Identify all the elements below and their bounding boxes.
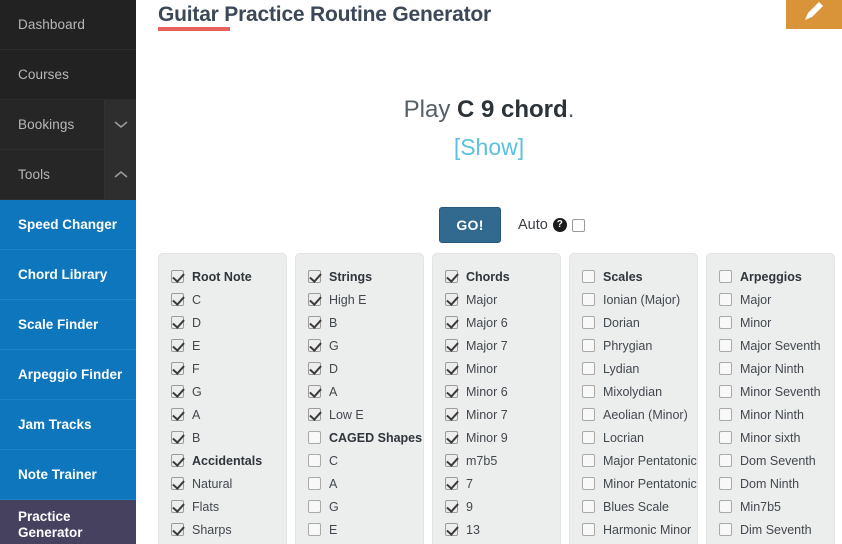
option-row[interactable]: Minor — [433, 357, 560, 380]
option-label: Minor Pentatonic — [603, 477, 697, 491]
option-label: A — [192, 408, 200, 422]
checkbox-chords-9[interactable] — [445, 477, 458, 490]
sidebar-item-bookings[interactable]: Bookings — [0, 100, 136, 150]
option-row[interactable]: D — [159, 311, 286, 334]
option-columns: Root NoteCDEFGABAccidentalsNaturalFlatsS… — [158, 253, 835, 544]
option-row[interactable]: Sharps — [159, 518, 286, 541]
checkbox-scales-2[interactable] — [582, 316, 595, 329]
option-label: CAGED Shapes — [329, 431, 422, 445]
main-content: Guitar Practice Routine Generator Play C… — [136, 0, 842, 544]
option-row[interactable]: G — [296, 495, 423, 518]
option-row[interactable]: Major Seventh — [707, 334, 834, 357]
checkbox-chords-1[interactable] — [445, 293, 458, 306]
option-column-root-note: Root NoteCDEFGABAccidentalsNaturalFlatsS… — [158, 253, 287, 544]
prompt-prefix: Play — [404, 96, 457, 123]
option-row[interactable]: Low E — [296, 403, 423, 426]
option-row[interactable]: Phrygian — [570, 334, 697, 357]
checkbox-scales-5[interactable] — [582, 385, 595, 398]
title-underline — [158, 27, 230, 31]
checkbox-strings-4[interactable] — [308, 362, 321, 375]
option-row[interactable]: Major Pentatonic — [570, 449, 697, 472]
sidebar-item-scale-finder[interactable]: Scale Finder — [0, 300, 136, 350]
option-label: m7b5 — [466, 454, 497, 468]
option-label: Lydian — [603, 362, 639, 376]
checkbox-root-note-2[interactable] — [171, 316, 184, 329]
checkbox-root-note-4[interactable] — [171, 362, 184, 375]
option-label: Chords — [466, 270, 510, 284]
checkbox-scales-10[interactable] — [582, 500, 595, 513]
option-row[interactable]: Natural — [159, 472, 286, 495]
checkbox-strings-0[interactable] — [308, 270, 321, 283]
option-label: Root Note — [192, 270, 252, 284]
option-label: Major Pentatonic — [603, 454, 697, 468]
option-row[interactable]: 13 — [433, 518, 560, 541]
checkbox-chords-7[interactable] — [445, 431, 458, 444]
sidebar-item-label: Chord Library — [18, 267, 107, 283]
option-row[interactable]: Dom Seventh — [707, 449, 834, 472]
app-root: DashboardCoursesBookingsToolsSpeed Chang… — [0, 0, 842, 544]
checkbox-strings-5[interactable] — [308, 385, 321, 398]
chevron-up-icon[interactable] — [104, 150, 136, 199]
sidebar-item-label: Practice Generator — [18, 509, 128, 540]
checkbox-chords-10[interactable] — [445, 500, 458, 513]
pencil-icon — [801, 0, 827, 24]
option-label: Arpeggios — [740, 270, 802, 284]
option-label: Natural — [192, 477, 232, 491]
option-row[interactable]: D — [296, 357, 423, 380]
option-row[interactable]: C — [159, 288, 286, 311]
option-label: 7 — [466, 477, 473, 491]
option-row[interactable]: E — [159, 334, 286, 357]
checkbox-chords-3[interactable] — [445, 339, 458, 352]
option-label: Minor sixth — [740, 431, 800, 445]
sidebar-item-label: Bookings — [18, 117, 74, 132]
option-label: F — [192, 362, 200, 376]
option-group-header[interactable]: Accidentals — [159, 449, 286, 472]
option-label: Minor — [740, 316, 771, 330]
sidebar-item-label: Speed Changer — [18, 217, 117, 233]
option-label: High E — [329, 293, 367, 307]
checkbox-scales-6[interactable] — [582, 408, 595, 421]
option-group-header[interactable]: Arpeggios — [707, 265, 834, 288]
practice-prompt: Play C 9 chord. — [136, 96, 842, 124]
prompt-suffix: . — [568, 96, 575, 123]
option-label: Dom Seventh — [740, 454, 816, 468]
checkbox-strings-2[interactable] — [308, 316, 321, 329]
checkbox-root-note-0[interactable] — [171, 270, 184, 283]
option-label: 13 — [466, 523, 480, 537]
sidebar-item-label: Tools — [18, 167, 50, 182]
option-row[interactable]: Major 7 — [433, 334, 560, 357]
go-button[interactable]: GO! — [439, 207, 501, 243]
option-row[interactable]: Major — [433, 288, 560, 311]
checkbox-arpeggios-1[interactable] — [719, 293, 732, 306]
option-row[interactable]: Major — [707, 288, 834, 311]
option-label: Dorian — [603, 316, 640, 330]
checkbox-scales-4[interactable] — [582, 362, 595, 375]
auto-label: Auto — [518, 217, 548, 233]
option-label: Harmonic Minor — [603, 523, 691, 537]
checkbox-scales-11[interactable] — [582, 523, 595, 536]
checkbox-scales-1[interactable] — [582, 293, 595, 306]
checkbox-scales-0[interactable] — [582, 270, 595, 283]
option-label: Strings — [329, 270, 372, 284]
auto-control: Auto ? — [518, 217, 585, 233]
checkbox-strings-8[interactable] — [308, 454, 321, 467]
option-label: Major — [466, 293, 497, 307]
checkbox-arpeggios-0[interactable] — [719, 270, 732, 283]
option-group-header[interactable]: Root Note — [159, 265, 286, 288]
checkbox-strings-6[interactable] — [308, 408, 321, 421]
checkbox-scales-3[interactable] — [582, 339, 595, 352]
checkbox-scales-7[interactable] — [582, 431, 595, 444]
option-row[interactable]: Major 6 — [433, 311, 560, 334]
option-row[interactable]: Minor Ninth — [707, 403, 834, 426]
checkbox-strings-7[interactable] — [308, 431, 321, 444]
option-row[interactable]: Minor 9 — [433, 426, 560, 449]
option-row[interactable]: A — [159, 403, 286, 426]
option-row[interactable]: Minor Pentatonic — [570, 472, 697, 495]
sidebar-item-label: Dashboard — [18, 17, 85, 32]
option-row[interactable]: Mixolydian — [570, 380, 697, 403]
checkbox-chords-2[interactable] — [445, 316, 458, 329]
option-row[interactable]: 7 — [433, 472, 560, 495]
checkbox-chords-8[interactable] — [445, 454, 458, 467]
option-label: Min7b5 — [740, 500, 781, 514]
checkbox-root-note-11[interactable] — [171, 523, 184, 536]
option-row[interactable]: Aeolian (Minor) — [570, 403, 697, 426]
checkbox-root-note-10[interactable] — [171, 500, 184, 513]
checkbox-root-note-3[interactable] — [171, 339, 184, 352]
sidebar-item-label: Courses — [18, 67, 69, 82]
sidebar-item-practice-generator[interactable]: Practice Generator — [0, 500, 136, 544]
option-label: Major Seventh — [740, 339, 821, 353]
option-group-header[interactable]: Chords — [433, 265, 560, 288]
option-label: Dim Seventh — [740, 523, 812, 537]
checkbox-strings-9[interactable] — [308, 477, 321, 490]
checkbox-scales-9[interactable] — [582, 477, 595, 490]
option-row[interactable]: Lydian — [570, 357, 697, 380]
option-label: Major — [740, 293, 771, 307]
edit-page-button[interactable] — [786, 0, 842, 29]
option-label: C — [329, 454, 338, 468]
option-row[interactable]: B — [159, 426, 286, 449]
option-label: Phrygian — [603, 339, 652, 353]
option-label: Minor Ninth — [740, 408, 804, 422]
checkbox-chords-4[interactable] — [445, 362, 458, 375]
sidebar: DashboardCoursesBookingsToolsSpeed Chang… — [0, 0, 136, 544]
checkbox-arpeggios-3[interactable] — [719, 339, 732, 352]
option-label: Flats — [192, 500, 219, 514]
option-row[interactable]: G — [159, 380, 286, 403]
checkbox-arpeggios-2[interactable] — [719, 316, 732, 329]
sidebar-item-arpeggio-finder[interactable]: Arpeggio Finder — [0, 350, 136, 400]
checkbox-arpeggios-9[interactable] — [719, 477, 732, 490]
option-label: Minor 6 — [466, 385, 508, 399]
option-row[interactable]: A — [296, 380, 423, 403]
option-label: Major Ninth — [740, 362, 804, 376]
option-row[interactable]: Locrian — [570, 426, 697, 449]
checkbox-root-note-1[interactable] — [171, 293, 184, 306]
checkbox-arpeggios-5[interactable] — [719, 385, 732, 398]
option-label: D — [192, 316, 201, 330]
option-label: Scales — [603, 270, 643, 284]
checkbox-chords-6[interactable] — [445, 408, 458, 421]
option-row[interactable]: Dorian — [570, 311, 697, 334]
sidebar-item-tools[interactable]: Tools — [0, 150, 136, 200]
option-row[interactable]: Min7b5 — [707, 495, 834, 518]
sidebar-item-note-trainer[interactable]: Note Trainer — [0, 450, 136, 500]
option-label: Ionian (Major) — [603, 293, 680, 307]
prompt-value: C 9 chord — [457, 96, 568, 123]
checkbox-arpeggios-6[interactable] — [719, 408, 732, 421]
option-row[interactable]: Flats — [159, 495, 286, 518]
option-column-arpeggios: ArpeggiosMajorMinorMajor SeventhMajor Ni… — [706, 253, 835, 544]
option-row[interactable]: B — [296, 311, 423, 334]
auto-checkbox[interactable] — [572, 219, 585, 232]
option-label: B — [192, 431, 200, 445]
option-row[interactable]: Minor sixth — [707, 426, 834, 449]
option-row[interactable]: Dim Seventh — [707, 518, 834, 541]
option-label: Mixolydian — [603, 385, 662, 399]
option-label: C — [192, 293, 201, 307]
option-group-header[interactable]: Strings — [296, 265, 423, 288]
option-row[interactable]: High E — [296, 288, 423, 311]
option-row[interactable]: C — [296, 449, 423, 472]
option-label: Accidentals — [192, 454, 262, 468]
chevron-down-icon[interactable] — [104, 100, 136, 149]
checkbox-root-note-6[interactable] — [171, 408, 184, 421]
checkbox-arpeggios-10[interactable] — [719, 500, 732, 513]
option-row[interactable]: Ionian (Major) — [570, 288, 697, 311]
option-row[interactable]: Minor — [707, 311, 834, 334]
option-label: Major 6 — [466, 316, 508, 330]
generate-controls: GO! Auto ? — [439, 207, 585, 243]
option-label: G — [329, 339, 339, 353]
checkbox-strings-10[interactable] — [308, 500, 321, 513]
option-label: G — [329, 500, 339, 514]
checkbox-chords-5[interactable] — [445, 385, 458, 398]
option-label: E — [329, 523, 337, 537]
option-label: Low E — [329, 408, 364, 422]
option-row[interactable]: m7b5 — [433, 449, 560, 472]
sidebar-item-label: Note Trainer — [18, 467, 97, 483]
show-answer-link[interactable]: [Show] — [136, 134, 842, 161]
checkbox-scales-8[interactable] — [582, 454, 595, 467]
sidebar-item-label: Scale Finder — [18, 317, 98, 333]
checkbox-root-note-7[interactable] — [171, 431, 184, 444]
option-label: Minor 9 — [466, 431, 508, 445]
sidebar-item-label: Jam Tracks — [18, 417, 92, 433]
checkbox-root-note-9[interactable] — [171, 477, 184, 490]
option-row[interactable]: 9 — [433, 495, 560, 518]
option-column-strings: StringsHigh EBGDALow ECAGED ShapesCAGE — [295, 253, 424, 544]
checkbox-arpeggios-8[interactable] — [719, 454, 732, 467]
option-row[interactable]: Minor 7 — [433, 403, 560, 426]
option-column-scales: ScalesIonian (Major)DorianPhrygianLydian… — [569, 253, 698, 544]
checkbox-chords-11[interactable] — [445, 523, 458, 536]
option-row[interactable]: E — [296, 518, 423, 541]
option-label: Locrian — [603, 431, 644, 445]
option-label: Minor 7 — [466, 408, 508, 422]
option-row[interactable]: A — [296, 472, 423, 495]
option-row[interactable]: Major Ninth — [707, 357, 834, 380]
help-icon[interactable]: ? — [553, 218, 567, 232]
checkbox-strings-11[interactable] — [308, 523, 321, 536]
option-group-header[interactable]: CAGED Shapes — [296, 426, 423, 449]
option-label: Blues Scale — [603, 500, 669, 514]
option-label: Minor Seventh — [740, 385, 821, 399]
sidebar-item-courses[interactable]: Courses — [0, 50, 136, 100]
checkbox-root-note-8[interactable] — [171, 454, 184, 467]
sidebar-item-jam-tracks[interactable]: Jam Tracks — [0, 400, 136, 450]
option-label: Aeolian (Minor) — [603, 408, 688, 422]
page-title: Guitar Practice Routine Generator — [158, 0, 491, 30]
sidebar-item-label: Arpeggio Finder — [18, 367, 122, 383]
option-label: Major 7 — [466, 339, 508, 353]
sidebar-item-chord-library[interactable]: Chord Library — [0, 250, 136, 300]
option-row[interactable]: G — [296, 334, 423, 357]
option-label: A — [329, 477, 337, 491]
option-label: 9 — [466, 500, 473, 514]
option-label: Dom Ninth — [740, 477, 799, 491]
checkbox-strings-1[interactable] — [308, 293, 321, 306]
option-row[interactable]: F — [159, 357, 286, 380]
option-label: E — [192, 339, 200, 353]
option-label: G — [192, 385, 202, 399]
checkbox-arpeggios-4[interactable] — [719, 362, 732, 375]
option-row[interactable]: Minor 6 — [433, 380, 560, 403]
checkbox-arpeggios-7[interactable] — [719, 431, 732, 444]
option-label: D — [329, 362, 338, 376]
option-row[interactable]: Harmonic Minor — [570, 518, 697, 541]
option-column-chords: ChordsMajorMajor 6Major 7MinorMinor 6Min… — [432, 253, 561, 544]
option-row[interactable]: Blues Scale — [570, 495, 697, 518]
option-group-header[interactable]: Scales — [570, 265, 697, 288]
option-row[interactable]: Minor Seventh — [707, 380, 834, 403]
option-label: Sharps — [192, 523, 232, 537]
checkbox-chords-0[interactable] — [445, 270, 458, 283]
checkbox-strings-3[interactable] — [308, 339, 321, 352]
option-row[interactable]: Dom Ninth — [707, 472, 834, 495]
sidebar-item-dashboard[interactable]: Dashboard — [0, 0, 136, 50]
checkbox-arpeggios-11[interactable] — [719, 523, 732, 536]
option-label: B — [329, 316, 337, 330]
option-label: A — [329, 385, 337, 399]
sidebar-item-speed-changer[interactable]: Speed Changer — [0, 200, 136, 250]
checkbox-root-note-5[interactable] — [171, 385, 184, 398]
option-label: Minor — [466, 362, 497, 376]
